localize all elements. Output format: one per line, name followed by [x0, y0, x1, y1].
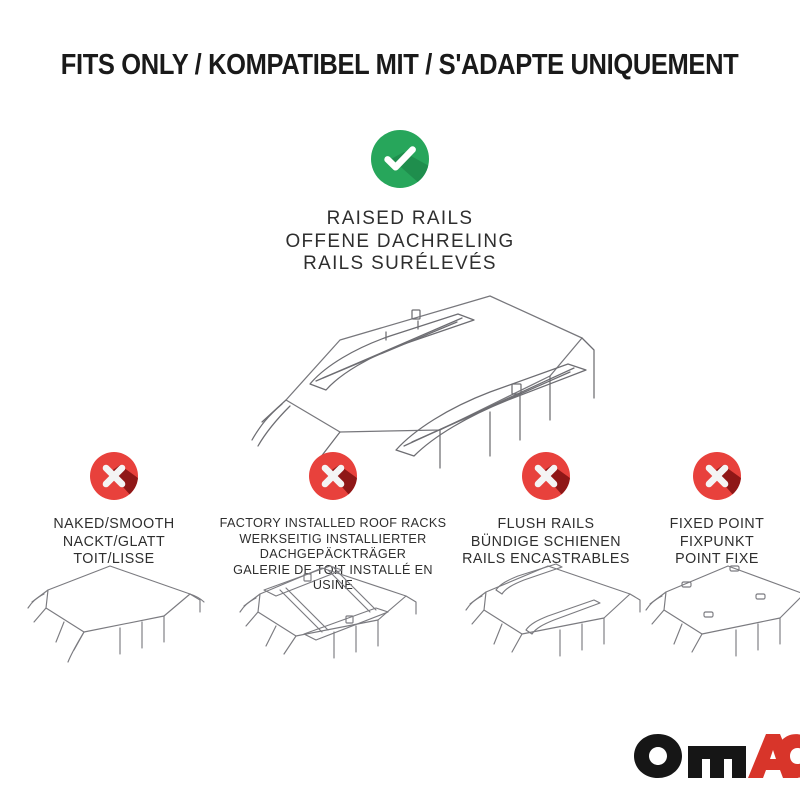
- x-circle-icon: [90, 452, 138, 500]
- omac-logo: [630, 730, 800, 782]
- label-en: FACTORY INSTALLED ROOF RACKS: [214, 515, 452, 531]
- car-roof-fixed-point-illustration: [638, 550, 796, 700]
- car-roof-naked-illustration: [14, 550, 214, 700]
- x-circle-icon: [522, 452, 570, 500]
- compatible-section: RAISED RAILS OFFENE DACHRELING RAILS SUR…: [0, 130, 800, 275]
- label-en: NAKED/SMOOTH: [19, 515, 209, 533]
- compatible-badge-wrap: [0, 130, 800, 193]
- x-circle-icon: [309, 452, 357, 500]
- label-de: BÜNDIGE SCHIENEN: [457, 533, 636, 551]
- incompatible-item-naked-smooth: NAKED/SMOOTH NACKT/GLATT TOIT/LISSE: [14, 452, 214, 568]
- incompatible-item-factory-installed-roof-racks: FACTORY INSTALLED ROOF RACKS WERKSEITIG …: [208, 452, 458, 593]
- incompatible-item-fixed-point: FIXED POINT FIXPUNKT POINT FIXE: [638, 452, 796, 568]
- page-title-text: FITS ONLY / KOMPATIBEL MIT / S'ADAPTE UN…: [61, 48, 739, 82]
- incompatible-item-flush-rails: FLUSH RAILS BÜNDIGE SCHIENEN RAILS ENCAS…: [452, 452, 640, 568]
- label-en: FIXED POINT: [642, 515, 792, 533]
- label-de-1: WERKSEITIG INSTALLIERTER: [214, 531, 452, 547]
- car-roof-raised-rails-illustration: [0, 280, 800, 470]
- label-de: FIXPUNKT: [642, 533, 792, 551]
- compatible-labels: RAISED RAILS OFFENE DACHRELING RAILS SUR…: [0, 207, 800, 275]
- compatible-label-de: OFFENE DACHRELING: [12, 230, 788, 253]
- check-circle-icon: [371, 130, 429, 188]
- page-title: FITS ONLY / KOMPATIBEL MIT / S'ADAPTE UN…: [0, 48, 800, 82]
- label-en: FLUSH RAILS: [457, 515, 636, 533]
- car-roof-factory-rack-illustration: [208, 550, 458, 700]
- compatible-label-en: RAISED RAILS: [12, 207, 788, 230]
- car-roof-flush-rails-illustration: [452, 550, 640, 700]
- label-de: NACKT/GLATT: [19, 533, 209, 551]
- compatible-label-fr: RAILS SURÉLEVÉS: [12, 252, 788, 275]
- x-circle-icon: [693, 452, 741, 500]
